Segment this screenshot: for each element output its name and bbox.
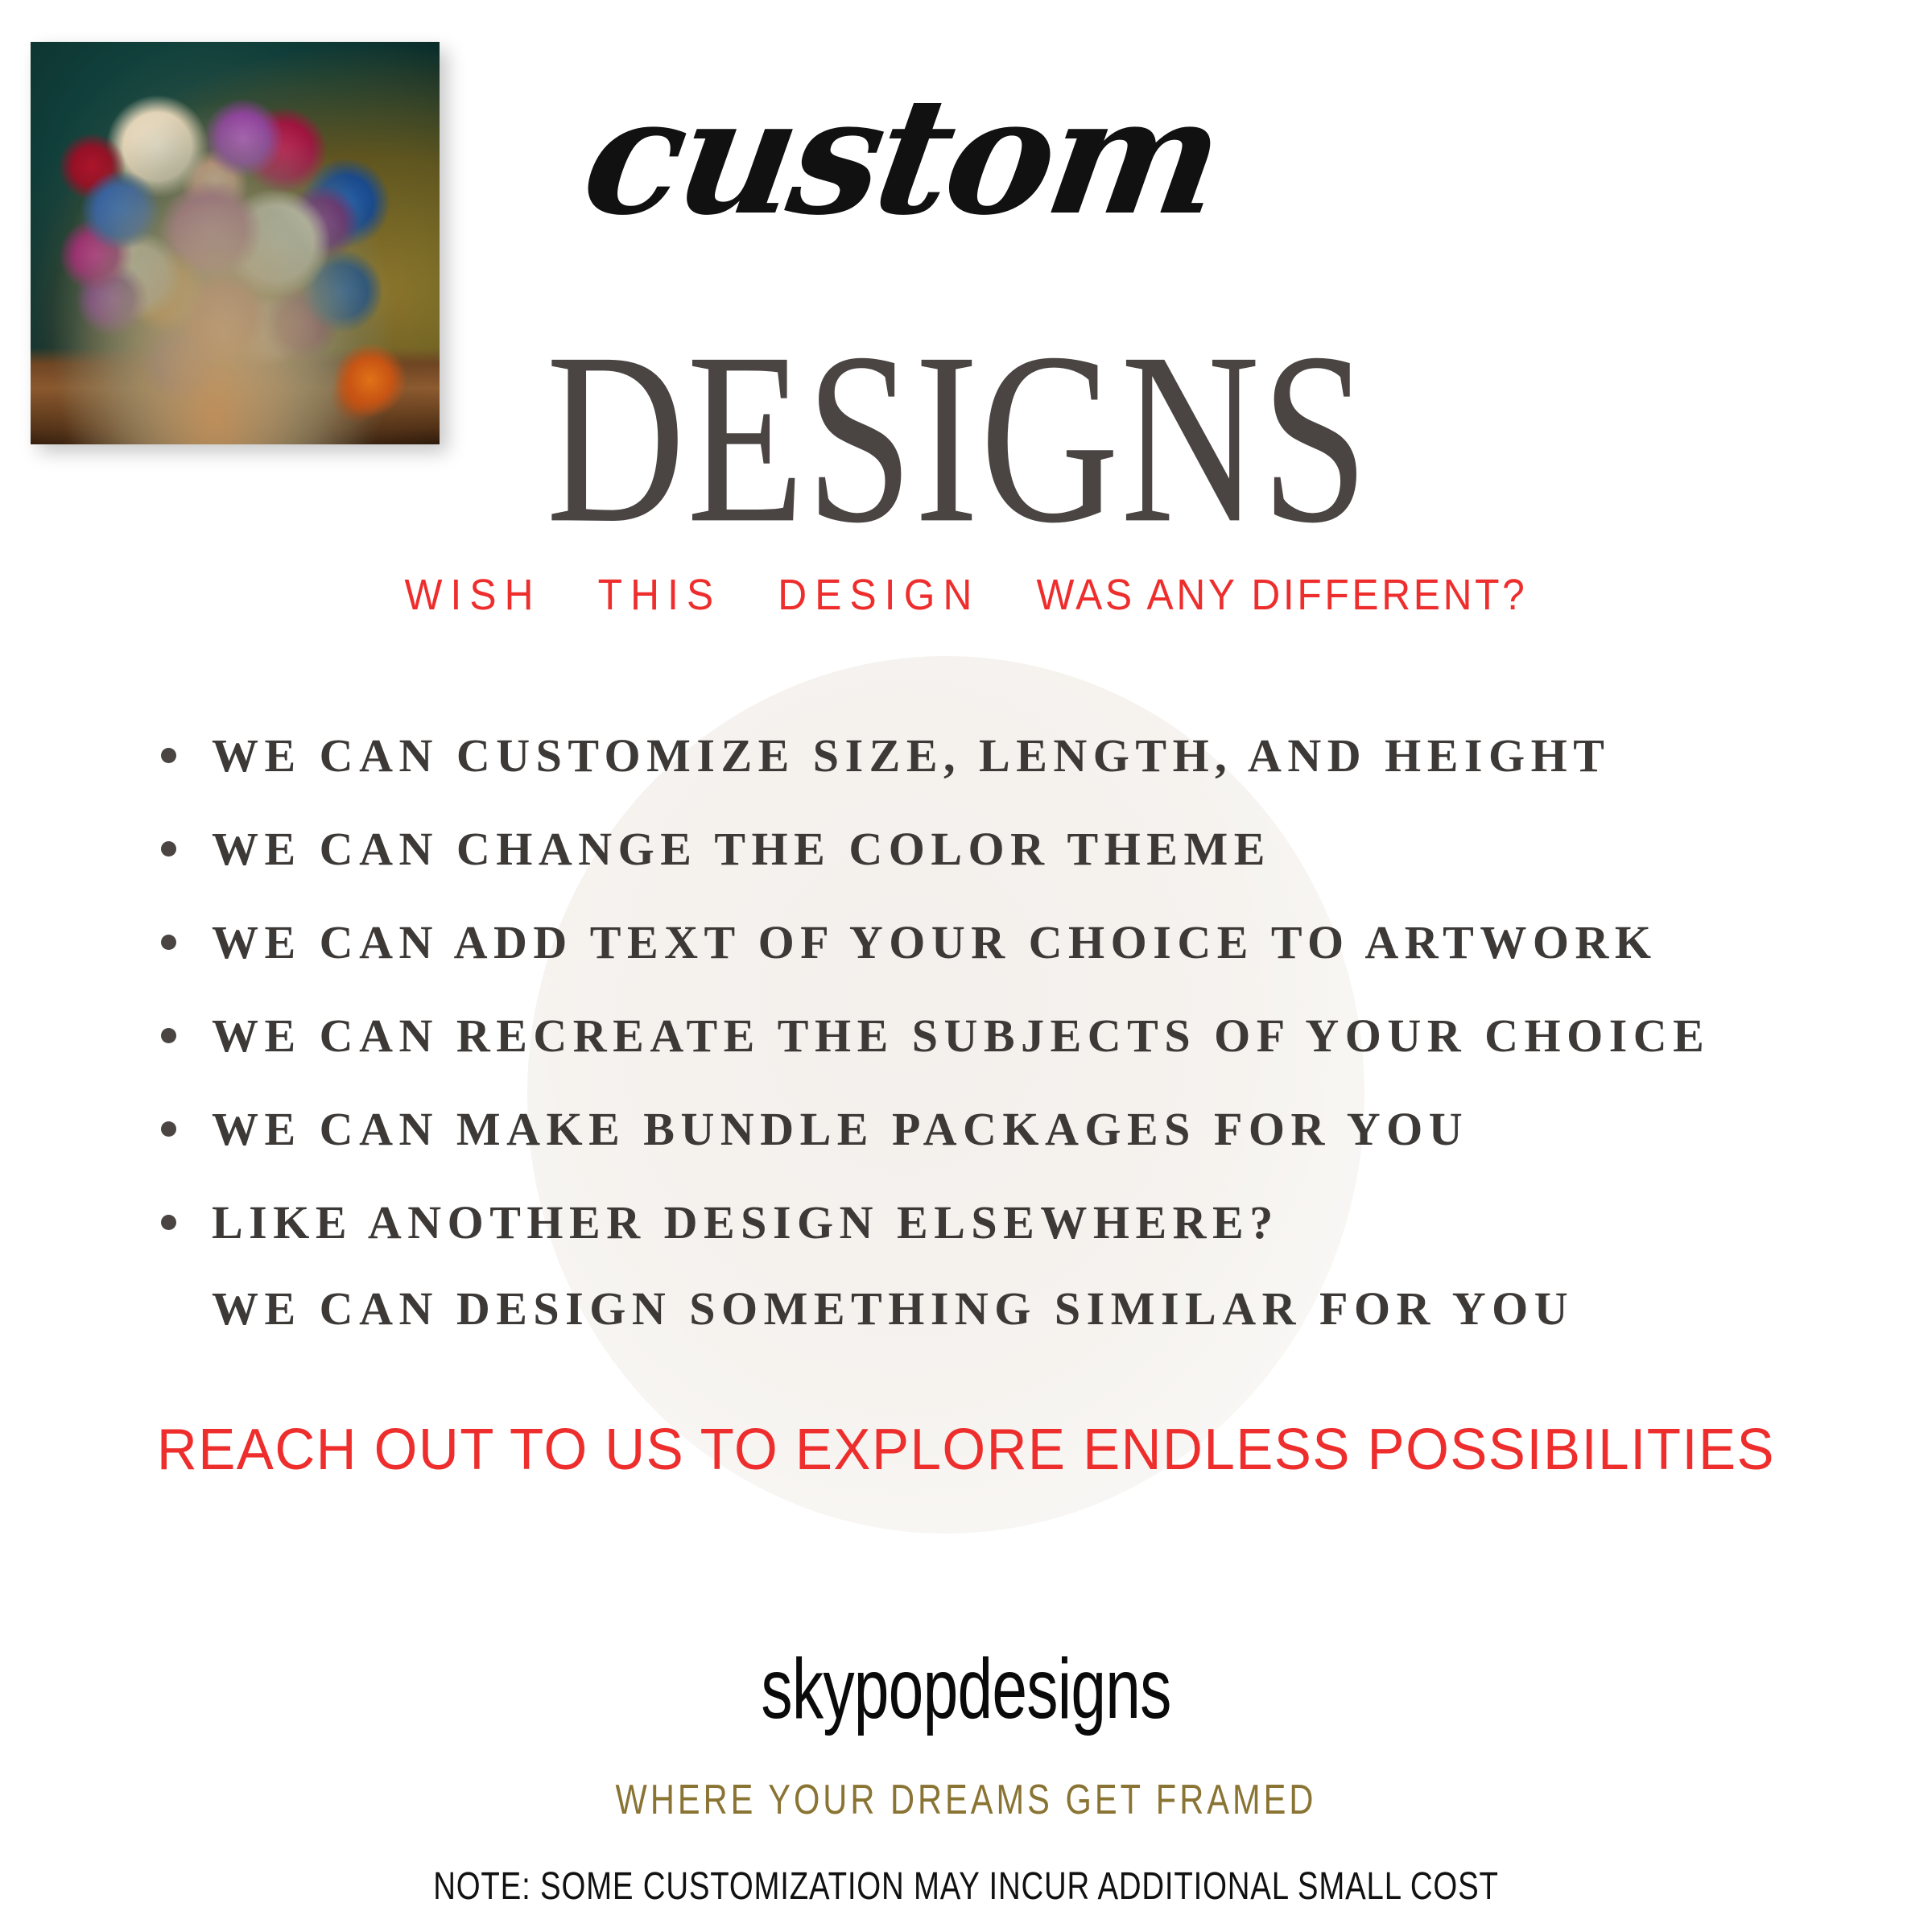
promo-graphic-canvas: custom DESIGNS WISH THIS DESIGN WAS ANY … [0,0,1932,1932]
brand-wordmark: skypopdesigns [251,1641,1681,1738]
subheading: WISH THIS DESIGN WAS ANY DIFFERENT? [77,570,1855,620]
list-item: WE CAN CUSTOMIZE SIZE, LENGTH, AND HEIGH… [161,708,1835,802]
bullet-dot-icon [161,935,176,950]
artwork-thumbnail[interactable] [31,42,440,444]
subheading-part-4: WAS ANY DIFFERENT? [1036,571,1527,619]
subheading-part-3: DESIGN [778,571,980,619]
list-item-label: WE CAN CHANGE THE COLOR THEME [212,822,1271,876]
bullet-dot-icon [161,1028,176,1043]
subheading-part-1: WISH [404,571,541,619]
list-continuation-line: WE CAN DESIGN SOMETHING SIMILAR FOR YOU [212,1282,1574,1335]
bullet-dot-icon [161,1215,176,1230]
footer-note: NOTE: SOME CUSTOMIZATION MAY INCUR ADDIT… [193,1864,1739,1909]
bullet-dot-icon [161,841,176,857]
list-item: WE CAN MAKE BUNDLE PACKAGES FOR YOU [161,1082,1835,1175]
list-item-label: WE CAN CUSTOMIZE SIZE, LENGTH, AND HEIGH… [212,729,1610,782]
subheading-part-2: THIS [598,571,722,619]
page-title: DESIGNS [512,322,1405,555]
list-item: LIKE ANOTHER DESIGN ELSEWHERE? [161,1175,1835,1269]
brand-tagline: WHERE YOUR DREAMS GET FRAMED [193,1776,1739,1824]
floral-still-life-painting [31,42,440,444]
list-item: WE CAN CHANGE THE COLOR THEME [161,802,1835,895]
list-item-label: WE CAN RECREATE THE SUBJECTS OF YOUR CHO… [212,1009,1710,1063]
call-to-action-text[interactable]: REACH OUT TO US TO EXPLORE ENDLESS POSSI… [39,1417,1893,1483]
bullet-dot-icon [161,748,176,763]
headline-script-word: custom [438,76,1365,237]
bullet-dot-icon [161,1121,176,1137]
list-item-label: WE CAN ADD TEXT OF YOUR CHOICE TO ARTWOR… [212,915,1657,969]
list-item-label: WE CAN MAKE BUNDLE PACKAGES FOR YOU [212,1102,1468,1156]
list-item: WE CAN RECREATE THE SUBJECTS OF YOUR CHO… [161,989,1835,1082]
list-item-label: LIKE ANOTHER DESIGN ELSEWHERE? [212,1195,1279,1249]
list-item: WE CAN ADD TEXT OF YOUR CHOICE TO ARTWOR… [161,895,1835,989]
feature-list: WE CAN CUSTOMIZE SIZE, LENGTH, AND HEIGH… [161,708,1835,1269]
